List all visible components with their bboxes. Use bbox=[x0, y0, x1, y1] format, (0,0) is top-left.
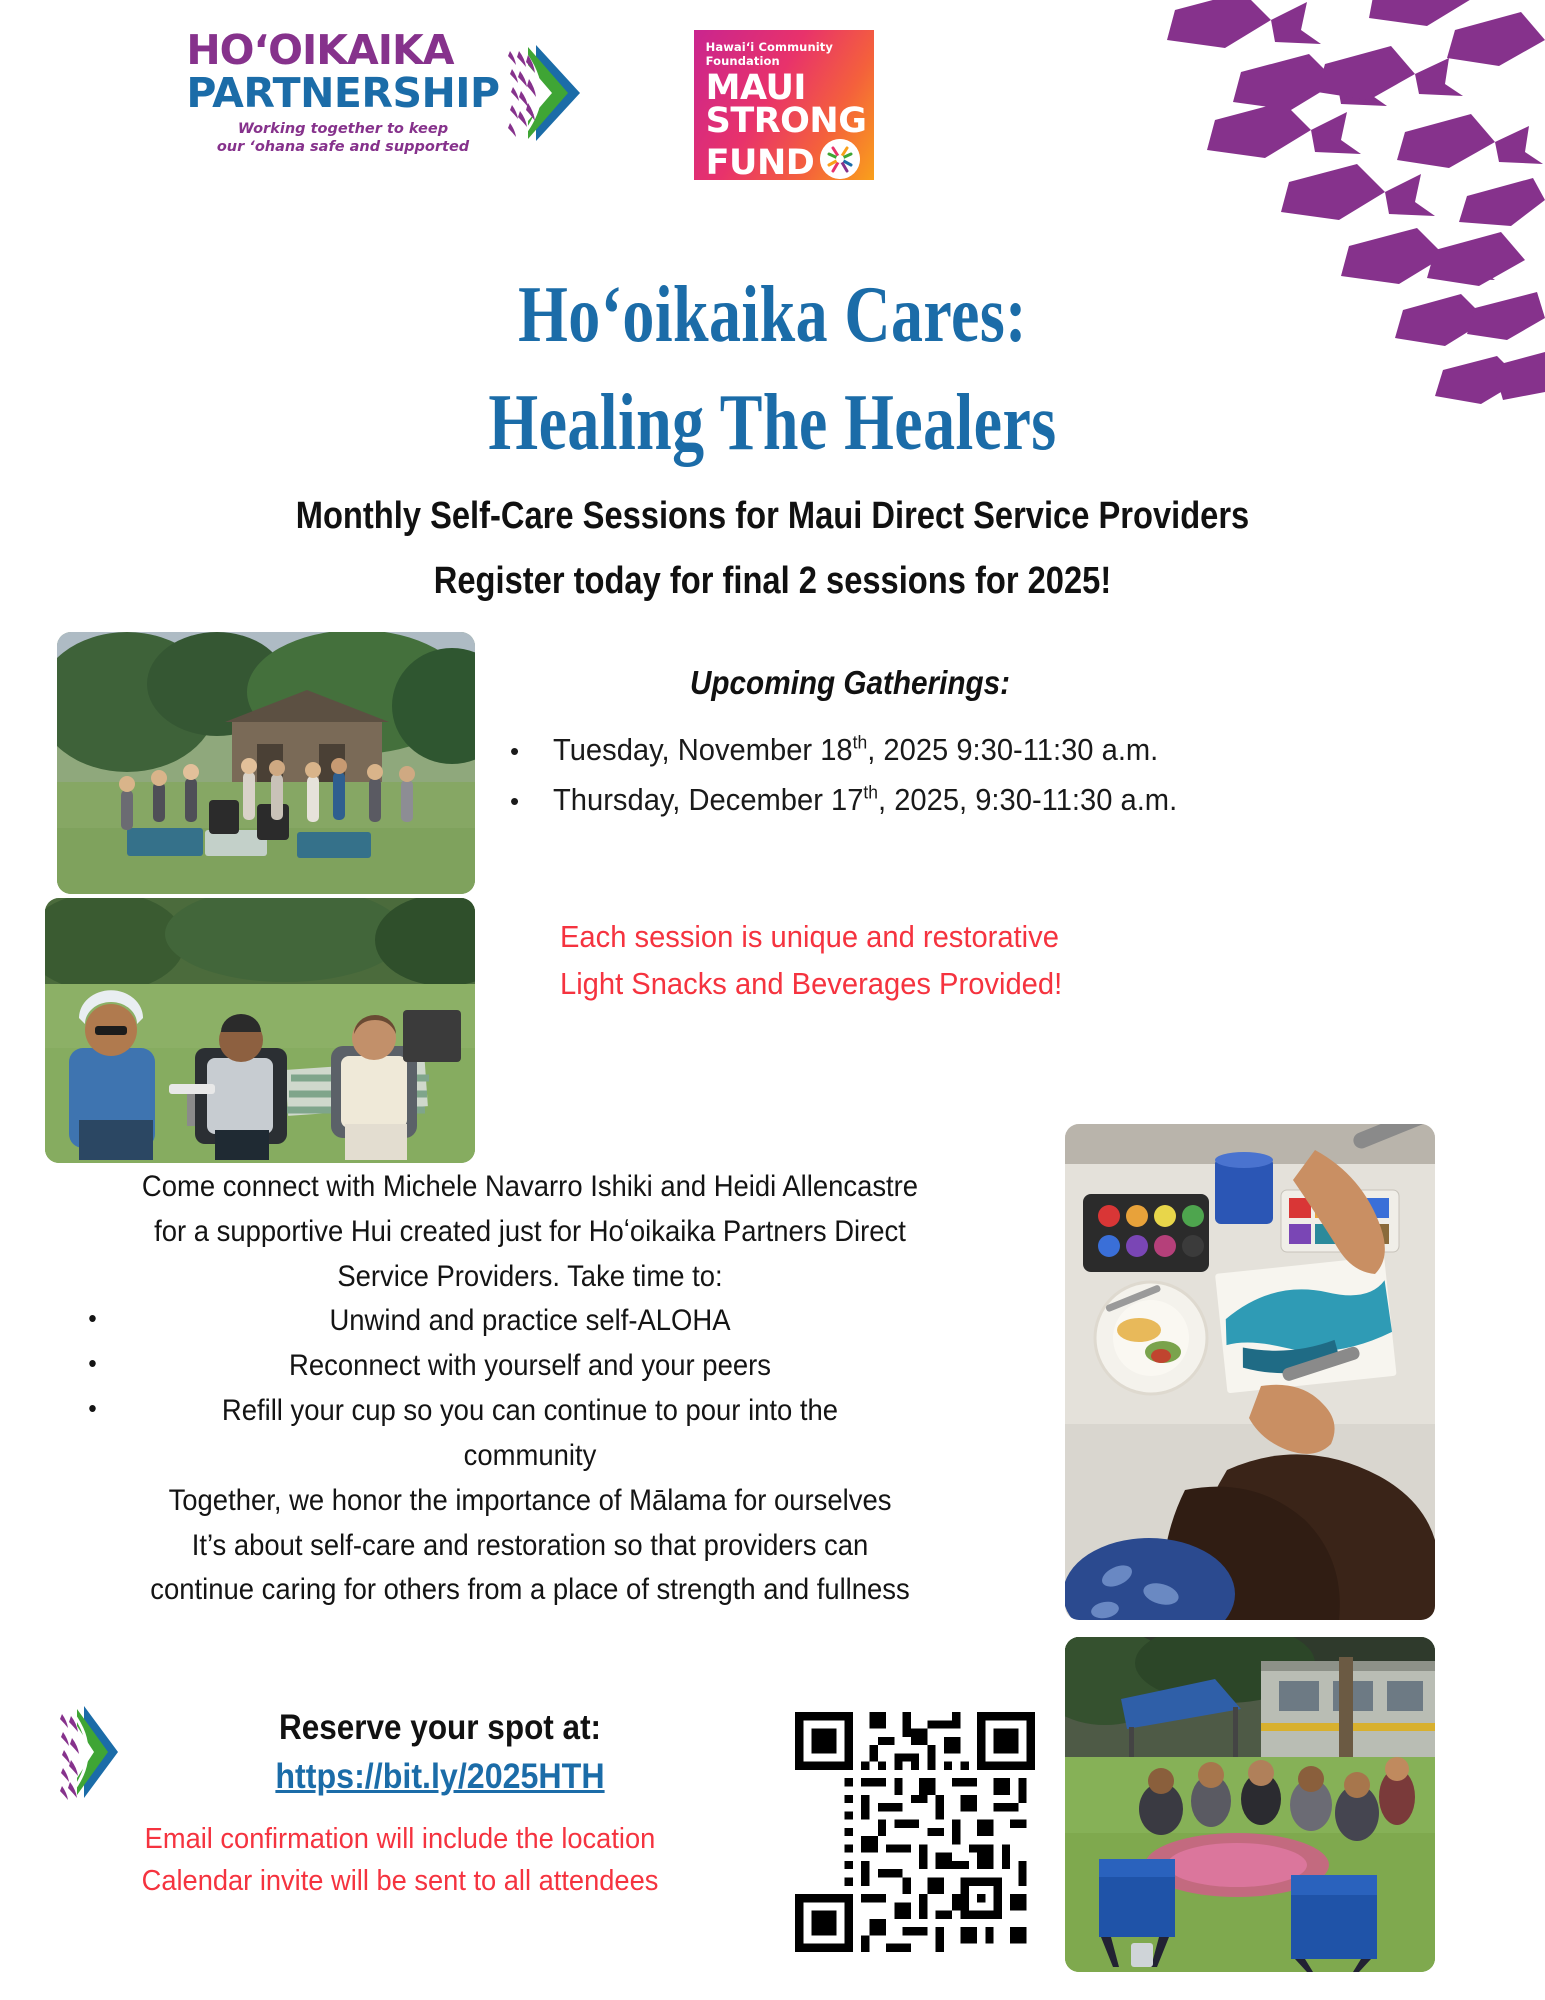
reserve-note-line1: Email confirmation will include the loca… bbox=[80, 1818, 719, 1860]
body-closing-line2: It’s about self-care and restoration so … bbox=[56, 1524, 1005, 1569]
body-bullet-3: • Refill your cup so you can continue to… bbox=[56, 1389, 1005, 1434]
body-bullet-1-text: Unwind and practice self-ALOHA bbox=[329, 1304, 730, 1337]
body-intro-line2: for a supportive Hui created just for Ho… bbox=[56, 1210, 1005, 1255]
gathering-date-item-2: • Thursday, December 17th, 2025, 9:30-11… bbox=[510, 775, 1210, 825]
maui-strong-word-fund: FUND bbox=[706, 147, 815, 180]
bullet-icon: • bbox=[510, 788, 519, 814]
gathering-2-ordinal: th bbox=[864, 782, 879, 803]
gathering-1-ordinal: th bbox=[853, 732, 868, 753]
partnership-logo-line2: PARTNERSHIP bbox=[186, 73, 499, 114]
body-intro-line1: Come connect with Michele Navarro Ishiki… bbox=[56, 1165, 1005, 1210]
body-bullet-2-text: Reconnect with yourself and your peers bbox=[289, 1349, 771, 1382]
logo-row: HOʻOIKAIKA PARTNERSHIP Working together … bbox=[0, 30, 1060, 180]
body-bullet-list: • Unwind and practice self-ALOHA • Recon… bbox=[20, 1299, 1040, 1433]
body-bullet-3-text: Refill your cup so you can continue to p… bbox=[222, 1394, 838, 1427]
bullet-icon: • bbox=[88, 1299, 96, 1339]
page-title-line1: Hoʻoikaika Cares: bbox=[155, 272, 1391, 358]
partnership-tagline-line1: Working together to keep bbox=[186, 120, 499, 138]
page-title-line2: Healing The Healers bbox=[155, 380, 1391, 466]
gathering-date-list: • Tuesday, November 18th, 2025 9:30-11:3… bbox=[510, 725, 1210, 825]
photo-group-on-lawn bbox=[1065, 1637, 1435, 1972]
bullet-icon: • bbox=[510, 738, 519, 764]
gathering-1-date: Tuesday, November 18 bbox=[553, 732, 853, 767]
maui-strong-word-maui: MAUI bbox=[706, 72, 862, 105]
body-bullet-1: • Unwind and practice self-ALOHA bbox=[56, 1299, 1005, 1344]
reserve-note: Email confirmation will include the loca… bbox=[60, 1818, 740, 1902]
highlight-line2: Light Snacks and Beverages Provided! bbox=[560, 960, 1237, 1007]
body-bullet-3-wrap: community bbox=[56, 1434, 1005, 1479]
reserve-block: Reserve your spot at: https://bit.ly/202… bbox=[60, 1700, 740, 1902]
registration-link[interactable]: https://bit.ly/2025HTH bbox=[164, 1757, 716, 1797]
subtitle-line1: Monthly Self-Care Sessions for Maui Dire… bbox=[108, 495, 1437, 538]
qr-code[interactable] bbox=[795, 1712, 1035, 1952]
partnership-chevron-icon bbox=[60, 1700, 122, 1804]
reserve-title: Reserve your spot at: bbox=[170, 1708, 710, 1748]
body-closing-line1: Together, we honor the importance of Māl… bbox=[56, 1479, 1005, 1524]
gathering-2-date: Thursday, December 17 bbox=[553, 782, 863, 817]
highlight-text: Each session is unique and restorative L… bbox=[560, 913, 1280, 1007]
photo-participants-lawn-chairs bbox=[45, 898, 475, 1163]
photo-watercolor-painting bbox=[1065, 1124, 1435, 1620]
body-bullet-2: • Reconnect with yourself and your peers bbox=[56, 1344, 1005, 1389]
maui-strong-foundation-line: Hawaiʻi Community Foundation bbox=[706, 40, 862, 68]
gathering-date-item-1: • Tuesday, November 18th, 2025 9:30-11:3… bbox=[510, 725, 1210, 775]
bullet-icon: • bbox=[88, 1389, 96, 1429]
body-intro-line3: Service Providers. Take time to: bbox=[56, 1255, 1005, 1300]
body-copy: Come connect with Michele Navarro Ishiki… bbox=[20, 1165, 1040, 1613]
partnership-logo-line1: HOʻOIKAIKA bbox=[186, 30, 499, 71]
gathering-1-rest: , 2025 9:30-11:30 a.m. bbox=[867, 732, 1158, 767]
maui-strong-fund-logo: Hawaiʻi Community Foundation MAUI STRONG… bbox=[694, 30, 874, 180]
photo-outdoor-group-trees bbox=[57, 632, 475, 894]
maui-strong-word-strong: STRONG bbox=[706, 105, 862, 138]
partnership-chevron-icon bbox=[506, 41, 584, 145]
highlight-line1: Each session is unique and restorative bbox=[560, 913, 1237, 960]
reserve-note-line2: Calendar invite will be sent to all atte… bbox=[80, 1860, 719, 1902]
subtitle-line2: Register today for final 2 sessions for … bbox=[108, 560, 1437, 603]
hcf-pinwheel-icon bbox=[820, 139, 860, 179]
hooikaika-partnership-logo: HOʻOIKAIKA PARTNERSHIP Working together … bbox=[186, 30, 583, 156]
gathering-2-rest: , 2025, 9:30-11:30 a.m. bbox=[878, 782, 1177, 817]
partnership-tagline-line2: our ʻohana safe and supported bbox=[186, 138, 499, 156]
upcoming-gatherings-heading: Upcoming Gatherings: bbox=[535, 664, 1165, 702]
body-closing-line3: continue caring for others from a place … bbox=[56, 1568, 1005, 1613]
bullet-icon: • bbox=[88, 1344, 96, 1384]
